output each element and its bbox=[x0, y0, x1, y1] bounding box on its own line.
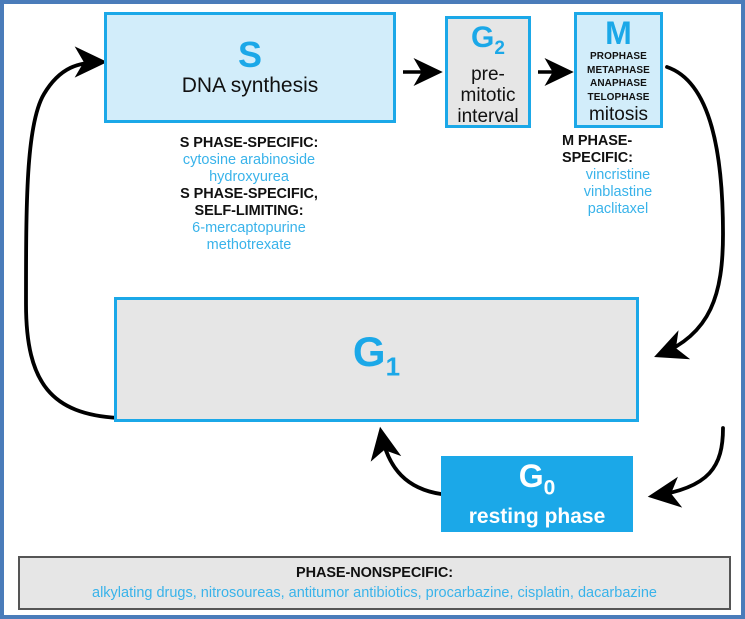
phase-letter-g0-glyph: G bbox=[519, 458, 544, 494]
drug-name-vincristine: vincristine bbox=[562, 167, 674, 184]
phase-letter-g2: G2 bbox=[471, 23, 505, 64]
phase-line-g2-3: interval bbox=[457, 106, 518, 127]
drug-name-vinblastine: vinblastine bbox=[562, 184, 674, 201]
drug-heading-phase-nonspecific: PHASE-NONSPECIFIC: bbox=[296, 565, 453, 582]
arrow-g1-to-g0 bbox=[653, 428, 723, 496]
phase-letter-g2-glyph: G bbox=[471, 21, 494, 54]
phase-letter-g0: G0 bbox=[519, 460, 556, 504]
phase-subscript-g0: 0 bbox=[544, 476, 556, 499]
phase-letter-s: S bbox=[238, 38, 262, 72]
drug-heading-m-phase-line2: SPECIFIC: bbox=[562, 150, 674, 167]
phase-letter-g1: G1 bbox=[353, 331, 400, 387]
arrow-g0-to-g1 bbox=[381, 432, 441, 494]
phase-subscript-g2: 2 bbox=[494, 38, 505, 59]
phase-box-g1[interactable]: G1 bbox=[114, 297, 639, 422]
drug-name-cytosine-arabinoside: cytosine arabinoside bbox=[124, 152, 374, 169]
drug-heading-m-phase-line1: M PHASE- bbox=[562, 133, 674, 150]
drug-list-m-phase: M PHASE- SPECIFIC: vincristine vinblasti… bbox=[562, 133, 674, 218]
drug-list-s-phase: S PHASE-SPECIFIC: cytosine arabinoside h… bbox=[124, 135, 374, 254]
drug-heading-s-self-limiting-line1: S PHASE-SPECIFIC, bbox=[124, 186, 374, 203]
drug-list-phase-nonspecific: alkylating drugs, nitrosoureas, antitumo… bbox=[92, 585, 657, 602]
drug-name-methotrexate: methotrexate bbox=[124, 237, 374, 254]
phase-subscript-g1: 1 bbox=[386, 352, 400, 382]
phase-nonspecific-box: PHASE-NONSPECIFIC: alkylating drugs, nit… bbox=[18, 556, 731, 610]
phase-box-g2[interactable]: G2 pre- mitotic interval bbox=[445, 16, 531, 128]
phase-subtitle-m: mitosis bbox=[589, 104, 648, 125]
drug-heading-s-self-limiting-line2: SELF-LIMITING: bbox=[124, 203, 374, 220]
phase-line-g2-1: pre- bbox=[471, 64, 505, 85]
cell-cycle-diagram: S DNA synthesis G2 pre- mitotic interval… bbox=[0, 0, 745, 619]
phase-subtitle-s: DNA synthesis bbox=[182, 74, 319, 98]
phase-line-g2-2: mitotic bbox=[461, 85, 516, 106]
phase-subtitle-g0: resting phase bbox=[469, 505, 606, 528]
phase-box-s[interactable]: S DNA synthesis bbox=[104, 12, 396, 123]
drug-heading-s-phase-specific: S PHASE-SPECIFIC: bbox=[124, 135, 374, 152]
drug-name-paclitaxel: paclitaxel bbox=[562, 201, 674, 218]
mitosis-phase-metaphase: METAPHASE bbox=[587, 65, 650, 77]
phase-box-m[interactable]: M PROPHASE METAPHASE ANAPHASE TELOPHASE … bbox=[574, 12, 663, 128]
mitosis-phase-telophase: TELOPHASE bbox=[587, 92, 649, 104]
drug-name-hydroxyurea: hydroxyurea bbox=[124, 169, 374, 186]
phase-box-g0[interactable]: G0 resting phase bbox=[441, 456, 633, 532]
mitosis-phase-anaphase: ANAPHASE bbox=[590, 78, 647, 90]
drug-name-6-mercaptopurine: 6-mercaptopurine bbox=[124, 220, 374, 237]
phase-letter-m: M bbox=[605, 17, 632, 49]
phase-letter-g1-glyph: G bbox=[353, 328, 386, 375]
mitosis-phase-prophase: PROPHASE bbox=[590, 51, 647, 63]
